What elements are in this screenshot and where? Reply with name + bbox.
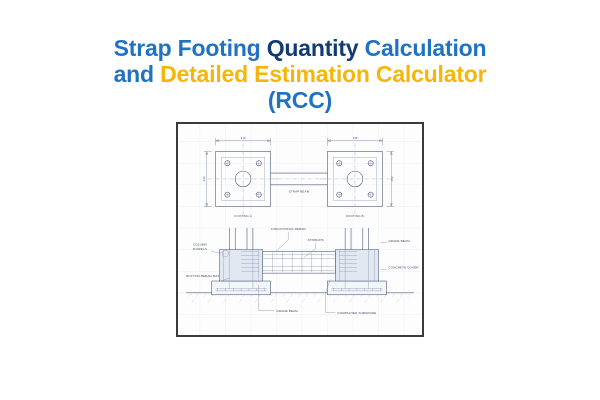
title-line-3: (RCC) xyxy=(0,88,600,114)
footing-a-height-value: 212 xyxy=(202,176,206,181)
title-word-and: and xyxy=(114,61,160,87)
technical-drawing-panel: STRAP BEAM 214 148 212 xyxy=(176,122,424,337)
footing-b-pedestal-block xyxy=(335,250,378,281)
label-stirrups: STIRRUPS xyxy=(308,238,324,242)
label-compacted-subgrade: COMPACTED SUBGRADE xyxy=(337,311,376,315)
strap-footing-drawing: STRAP BEAM 214 148 212 xyxy=(178,124,422,335)
strap-beam-outline xyxy=(263,252,336,274)
title-word-quantity: Quantity xyxy=(267,35,365,61)
strap-beam-section xyxy=(263,252,336,274)
footing-b-section xyxy=(327,228,386,295)
label-column-dowels-line2: DOWELS xyxy=(193,247,207,251)
strap-beam-plan xyxy=(271,173,328,185)
label-grade-beam-right: GRADE BEAM xyxy=(388,239,410,243)
footing-a-section xyxy=(212,228,271,295)
footing-b-label: FOOTING B xyxy=(346,214,364,218)
title-line-2: and Detailed Estimation Calculator xyxy=(0,62,600,88)
title-line-1: Strap Footing Quantity Calculation xyxy=(0,36,600,62)
section-view: COLUMN DOWELS LONGUTIONAL REBAR STIRRUPS… xyxy=(186,227,419,315)
strap-beam-stirrup-ticks xyxy=(273,253,322,273)
label-longitudinal-rebar: LONGUTIONAL REBAR xyxy=(271,227,307,231)
footing-a-pedestal-block xyxy=(220,250,263,281)
footing-b-height-value: 152 xyxy=(390,176,394,181)
title-word-calculation: Calculation xyxy=(365,35,487,61)
footing-a-label: FOOTING A xyxy=(234,214,252,218)
strap-beam-label: STRAP BEAM xyxy=(289,190,310,194)
longitudinal-rebar-lines xyxy=(263,255,336,271)
footing-a-pad xyxy=(212,281,271,295)
label-grade-beam-bottom: GRADE BEAM xyxy=(276,309,298,313)
footing-b-pad xyxy=(327,281,386,295)
title-word-rcc: (RCC) xyxy=(268,87,332,113)
page-title: Strap Footing Quantity Calculation and D… xyxy=(0,36,600,113)
leader-stirrups xyxy=(304,243,316,258)
title-word-strap-footing: Strap Footing xyxy=(114,35,267,61)
footing-b-width-value: 148 xyxy=(353,136,358,140)
footing-a-width-value: 214 xyxy=(241,136,246,140)
label-column-dowels-line1: COLUMN xyxy=(193,243,207,247)
label-concrete-cover: CONCRETE COVER xyxy=(388,265,419,269)
title-word-detailed-estimation-calculator: Detailed Estimation Calculator xyxy=(160,61,486,87)
plan-view: STRAP BEAM 214 148 212 xyxy=(202,136,394,218)
label-bottom-rebar-mat: BOTTOM REBAR MAT xyxy=(186,274,219,278)
